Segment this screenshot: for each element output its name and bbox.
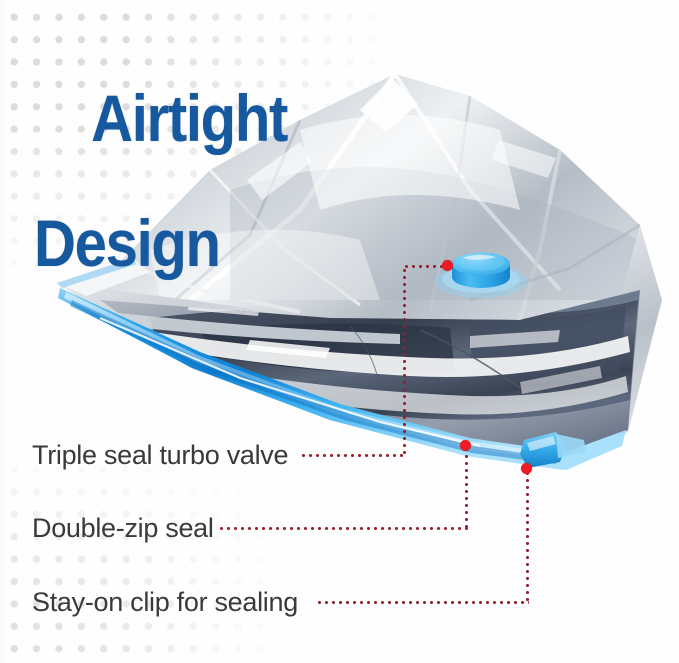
headline-line-1: Airtight — [91, 81, 287, 155]
callout-label-triple-seal-turbo-valve: Triple seal turbo valve — [32, 440, 288, 471]
headline-line-2: Design — [34, 212, 287, 275]
callout-label-double-zip-seal: Double-zip seal — [32, 513, 214, 544]
leader-line-zip-vertical — [465, 446, 468, 529]
leader-line-clip-vertical — [526, 470, 529, 603]
callout-label-stay-on-clip-for-sealing: Stay-on clip for sealing — [32, 587, 298, 618]
marker-dot-stay-on-clip — [521, 463, 532, 474]
marker-dot-turbo-valve — [442, 260, 453, 271]
leader-line-valve-horizontal — [300, 454, 406, 457]
product-feature-graphic: Airtight Design Triple seal turbo valve … — [0, 0, 679, 663]
page-title: Airtight Design — [34, 24, 287, 400]
leader-line-zip-horizontal — [218, 527, 468, 530]
marker-dot-double-zip-seal — [460, 440, 471, 451]
leader-line-valve-vertical — [403, 267, 406, 456]
leader-line-clip-horizontal — [316, 601, 529, 604]
